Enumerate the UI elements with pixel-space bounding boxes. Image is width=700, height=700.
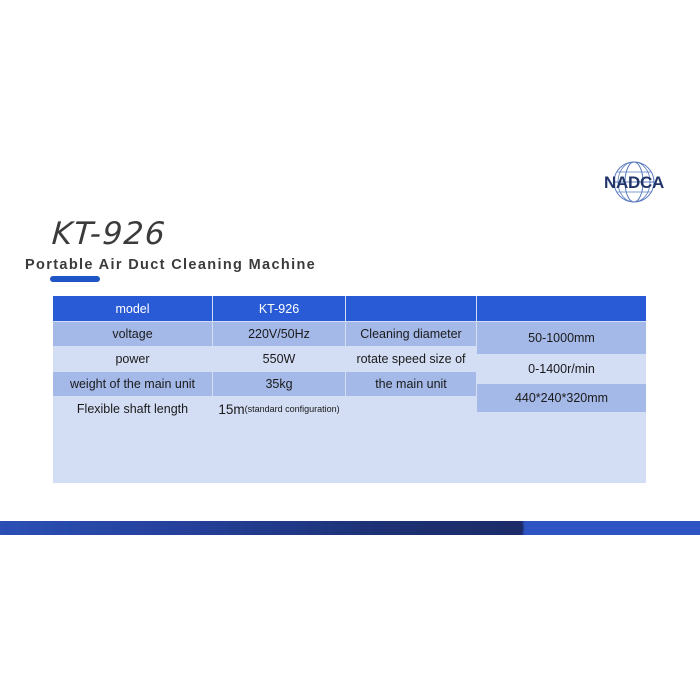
table-cell-value-2: 550W	[213, 347, 345, 371]
nadca-logo: NADCA	[598, 160, 670, 206]
slide-canvas: NADCA KT-926 Portable Air Duct Cleaning …	[0, 0, 700, 700]
table-cell-label-0: model	[53, 296, 212, 321]
table-cell-rlabel-1: Cleaning diameter	[346, 322, 476, 346]
table-cell-label-1: voltage	[53, 322, 212, 346]
title-underline-accent	[50, 276, 100, 282]
table-cell-rvalue-3: 440*240*320mm	[477, 384, 646, 412]
footer-bar-dark-segment	[0, 521, 523, 535]
table-cell-value-0: KT-926	[213, 296, 345, 321]
table-cell-value-1: 220V/50Hz	[213, 322, 345, 346]
specification-table: model voltage power weight of the main u…	[53, 296, 646, 483]
flex-shaft-length-note: (standard configuration)	[245, 404, 340, 414]
table-cell-rvalue-1: 50-1000mm	[477, 322, 646, 354]
flex-shaft-length-value: 15m	[218, 402, 244, 417]
table-cell-label-4: Flexible shaft length	[53, 397, 212, 421]
table-cell-label-2: power	[53, 347, 212, 371]
page-title: KT-926	[51, 216, 168, 252]
table-cell-rlabel-2: rotate speed size of	[346, 347, 476, 371]
table-cell-rlabel-3: the main unit	[346, 372, 476, 396]
nadca-logo-text: NADCA	[598, 174, 670, 191]
table-cell-rlabel-4	[346, 397, 476, 421]
table-cell-value-4: 15m(standard configuration)	[213, 397, 345, 421]
table-cell-rvalue-2: 0-1400r/min	[477, 355, 646, 383]
table-cell-rvalue-4	[477, 413, 646, 437]
page-subtitle: Portable Air Duct Cleaning Machine	[25, 257, 316, 273]
table-cell-label-3: weight of the main unit	[53, 372, 212, 396]
table-cell-value-3: 35kg	[213, 372, 345, 396]
table-cell-rlabel-0	[346, 296, 476, 321]
table-cell-rvalue-0	[477, 296, 646, 321]
